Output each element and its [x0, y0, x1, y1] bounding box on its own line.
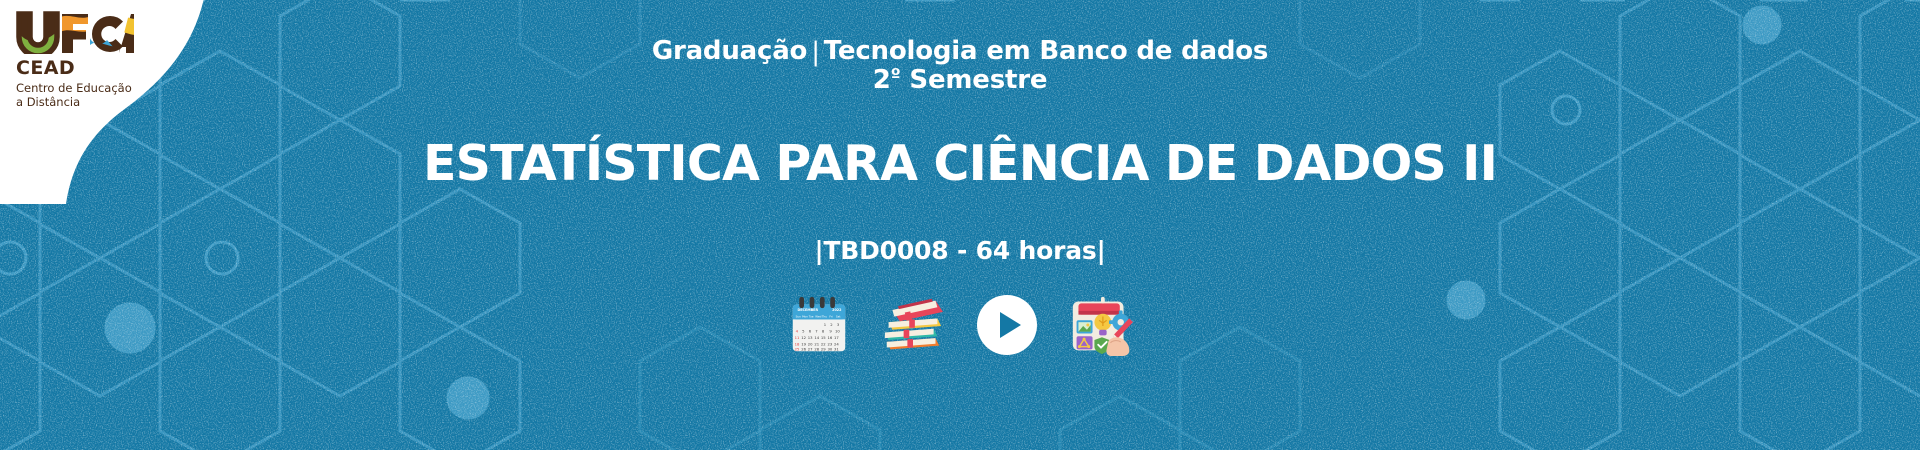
svg-text:Sun: Sun [796, 315, 802, 319]
play-button-icon[interactable] [973, 291, 1041, 359]
svg-text:14: 14 [814, 336, 819, 340]
svg-text:Fri: Fri [829, 315, 833, 319]
svg-text:DECEMBER: DECEMBER [797, 308, 818, 312]
svg-text:12: 12 [801, 336, 806, 340]
svg-text:Mon: Mon [802, 315, 808, 319]
course-banner: CEAD Centro de Educação a Distância Grad… [0, 0, 1920, 450]
course-program: Tecnologia em Banco de dados [824, 36, 1268, 66]
semester-ordinal-mark: º [891, 65, 901, 86]
svg-text:23: 23 [827, 343, 832, 347]
course-program-line: Graduação|Tecnologia em Banco de dados [0, 37, 1920, 65]
svg-text:22: 22 [821, 343, 826, 347]
svg-text:13: 13 [808, 336, 813, 340]
svg-text:24: 24 [834, 343, 839, 347]
ufca-cead-logo: CEAD Centro de Educação a Distância [16, 10, 176, 109]
svg-text:15: 15 [821, 336, 826, 340]
svg-text:20: 20 [808, 343, 813, 347]
svg-text:2022: 2022 [832, 308, 842, 312]
page-title: ESTATÍSTICA PARA CIÊNCIA DE DADOS II [0, 139, 1920, 188]
svg-text:Tue: Tue [808, 315, 814, 319]
course-semester-line: 2º Semestre [0, 66, 1920, 94]
course-separator: | [807, 38, 824, 66]
calendar-icon[interactable]: DECEMBER 2022 SunMonTue WedThuFri Sat 12… [785, 291, 853, 359]
svg-text:11: 11 [795, 336, 800, 340]
svg-text:16: 16 [827, 336, 832, 340]
book-stack-icon[interactable] [879, 291, 947, 359]
ufca-wordmark-icon [16, 10, 134, 54]
svg-text:26: 26 [801, 347, 806, 351]
cead-name-line-2: a Distância [16, 95, 80, 109]
cead-name-line-1: Centro de Educação [16, 81, 132, 95]
svg-text:25: 25 [795, 347, 800, 351]
svg-text:17: 17 [834, 336, 839, 340]
svg-text:Wed: Wed [815, 315, 821, 319]
logo-container: CEAD Centro de Educação a Distância [0, 0, 230, 206]
svg-text:31: 31 [834, 347, 839, 351]
cead-abbreviation: CEAD [16, 59, 176, 78]
icon-row: DECEMBER 2022 SunMonTue WedThuFri Sat 12… [0, 291, 1920, 359]
svg-text:28: 28 [814, 347, 819, 351]
svg-text:29: 29 [821, 347, 826, 351]
svg-text:19: 19 [801, 343, 806, 347]
svg-text:30: 30 [827, 347, 832, 351]
semester-label: Semestre [909, 65, 1047, 95]
svg-text:27: 27 [808, 347, 813, 351]
cead-full-name: Centro de Educação a Distância [16, 81, 136, 109]
svg-text:Thu: Thu [821, 315, 827, 319]
svg-text:18: 18 [795, 343, 800, 347]
course-code-workload: |TBD0008 - 64 horas| [0, 236, 1920, 265]
semester-number: 2 [873, 65, 891, 95]
banner-content: Graduação|Tecnologia em Banco de dados 2… [0, 0, 1920, 359]
creative-board-icon[interactable] [1067, 291, 1135, 359]
svg-text:10: 10 [835, 330, 840, 334]
svg-text:21: 21 [814, 343, 819, 347]
course-level: Graduação [652, 36, 807, 66]
